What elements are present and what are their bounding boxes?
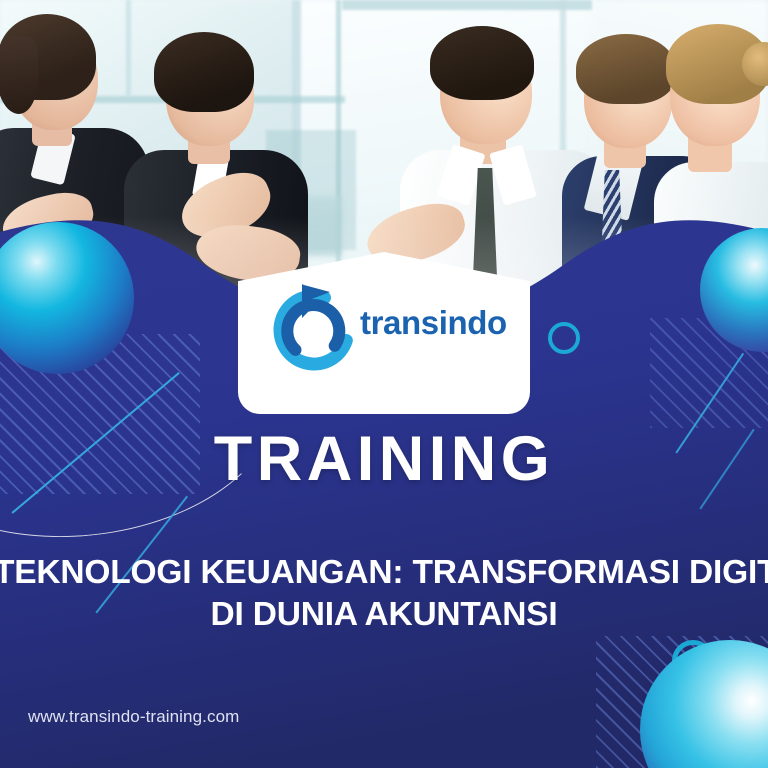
poster-subtitle: TEKNOLOGI KEUANGAN: TRANSFORMASI DIGITAL… [0, 552, 768, 636]
website-url: www.transindo-training.com [28, 707, 239, 727]
logo-card-inner: transindo [238, 252, 530, 414]
logo-card: transindo [238, 252, 530, 414]
transindo-circular-swoosh-logo [262, 278, 366, 382]
cyan-ring-top-right [548, 322, 580, 354]
training-poster: transindo TRAINING TEKNOLOGI KEUANGAN: T… [0, 0, 768, 768]
logo-wordmark: transindo [360, 304, 507, 342]
subtitle-line-1: TEKNOLOGI KEUANGAN: TRANSFORMASI DIGITAL [0, 552, 768, 594]
subtitle-line-2: DI DUNIA AKUNTANSI [0, 594, 768, 636]
page-title: TRAINING [0, 423, 768, 495]
